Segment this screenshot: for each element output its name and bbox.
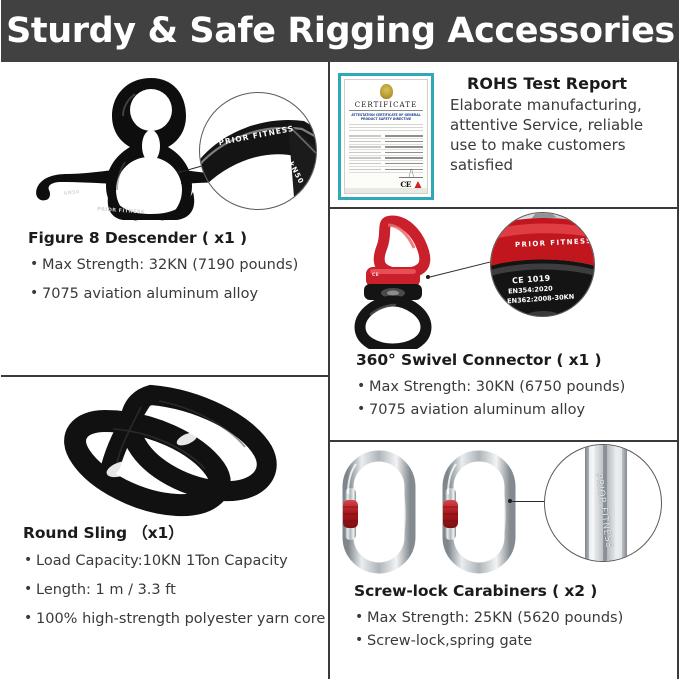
figure8-magnifier-art	[200, 93, 317, 210]
sling-bullet-2: 100% high-strength polyester yarn core	[23, 610, 326, 629]
panel-figure8: kN50 PRIOR FITNESS PRIOR FITNESS kN50 Fi…	[1, 62, 328, 375]
panel-rohs: CERTIFICATE ATTESTATION CERTIFICATE OF G…	[330, 62, 679, 207]
header-bar: Sturdy & Safe Rigging Accessories	[1, 0, 679, 62]
rohs-body: Elaborate manufacturing, attentive Servi…	[450, 96, 672, 176]
figure8-bullet-0: Max Strength: 32KN (7190 pounds)	[29, 256, 316, 275]
swivel-bullet-0: Max Strength: 30KN (6750 pounds)	[356, 378, 674, 397]
carabiners-text-block: Screw-lock Carabiners ( x2 ) Max Strengt…	[330, 578, 679, 651]
round-sling-image	[1, 377, 328, 517]
page-title: Sturdy & Safe Rigging Accessories	[6, 11, 675, 51]
certificate-frame: CERTIFICATE ATTESTATION CERTIFICATE OF G…	[338, 73, 434, 200]
rohs-text-block: ROHS Test Report Elaborate manufacturing…	[434, 73, 672, 176]
swivel-bullet-list: Max Strength: 30KN (6750 pounds) 7075 av…	[356, 378, 674, 420]
swivel-body-label: CE	[372, 273, 379, 278]
certificate-signature-area	[349, 169, 423, 178]
certificate-wrap: CERTIFICATE ATTESTATION CERTIFICATE OF G…	[338, 73, 434, 200]
swivel-bullet-1: 7075 aviation aluminum alloy	[356, 401, 674, 420]
carabiners-title: Screw-lock Carabiners ( x2 )	[354, 582, 674, 600]
panel-swivel: CE PRIOR FITNESS CE 1019 EN354:20	[330, 209, 679, 440]
certificate-subtitle: ATTESTATION CERTIFICATE OF GENERAL PRODU…	[349, 113, 423, 121]
figure8-text-block: Figure 8 Descender ( x1 ) Max Strength: …	[1, 225, 328, 304]
figure8-title: Figure 8 Descender ( x1 )	[28, 229, 316, 247]
swivel-title: 360° Swivel Connector ( x1 )	[356, 351, 674, 369]
sling-artwork	[1, 377, 328, 517]
certificate-seal-icon	[380, 84, 393, 99]
certificate-heading: CERTIFICATE	[349, 101, 423, 111]
carabiners-bullet-1: Screw-lock,spring gate	[354, 632, 674, 651]
swivel-text-block: 360° Swivel Connector ( x1 ) Max Strengt…	[330, 349, 679, 420]
sling-text-block: Round Sling （x1） Load Capacity:10KN 1Ton…	[1, 517, 328, 629]
figure8-bullet-list: Max Strength: 32KN (7190 pounds) 7075 av…	[29, 256, 316, 304]
infographic-page: Sturdy & Safe Rigging Accessories	[0, 0, 679, 679]
certificate-document: CERTIFICATE ATTESTATION CERTIFICATE OF G…	[344, 79, 428, 194]
signature-icon	[399, 169, 423, 178]
carabiners-bullet-list: Max Strength: 25KN (5620 pounds) Screw-l…	[354, 609, 674, 651]
certificate-footer-band	[345, 188, 427, 193]
figure8-magnifier: PRIOR FITNESS kN50	[199, 92, 317, 210]
sling-bullet-1: Length: 1 m / 3.3 ft	[23, 581, 326, 600]
carabiners-artwork: PRIOR FITNESS	[330, 442, 679, 578]
carabiners-bullet-0: Max Strength: 25KN (5620 pounds)	[354, 609, 674, 628]
swivel-magnifier: PRIOR FITNESS CE 1019 EN354:2020 EN362:2…	[490, 212, 595, 317]
rohs-title: ROHS Test Report	[450, 74, 672, 93]
certificate-field-rows	[349, 134, 423, 173]
figure8-artwork: kN50 PRIOR FITNESS PRIOR FITNESS kN50	[1, 62, 328, 225]
sling-title: Round Sling （x1）	[23, 521, 326, 543]
sling-bullet-0: Load Capacity:10KN 1Ton Capacity	[23, 552, 326, 571]
swivel-artwork: CE PRIOR FITNESS CE 1019 EN354:20	[330, 209, 679, 349]
panel-sling: Round Sling （x1） Load Capacity:10KN 1Ton…	[1, 377, 328, 679]
figure8-bullet-1: 7075 aviation aluminum alloy	[29, 285, 316, 304]
carabiner-leader-line	[510, 501, 548, 502]
certificate-paragraph	[349, 124, 423, 130]
sling-bullet-list: Load Capacity:10KN 1Ton Capacity Length:…	[23, 552, 326, 629]
panel-carabiners: PRIOR FITNESS Screw-lock Carabiners ( x2…	[330, 442, 679, 679]
carabiner-magnifier: PRIOR FITNESS	[544, 444, 662, 562]
